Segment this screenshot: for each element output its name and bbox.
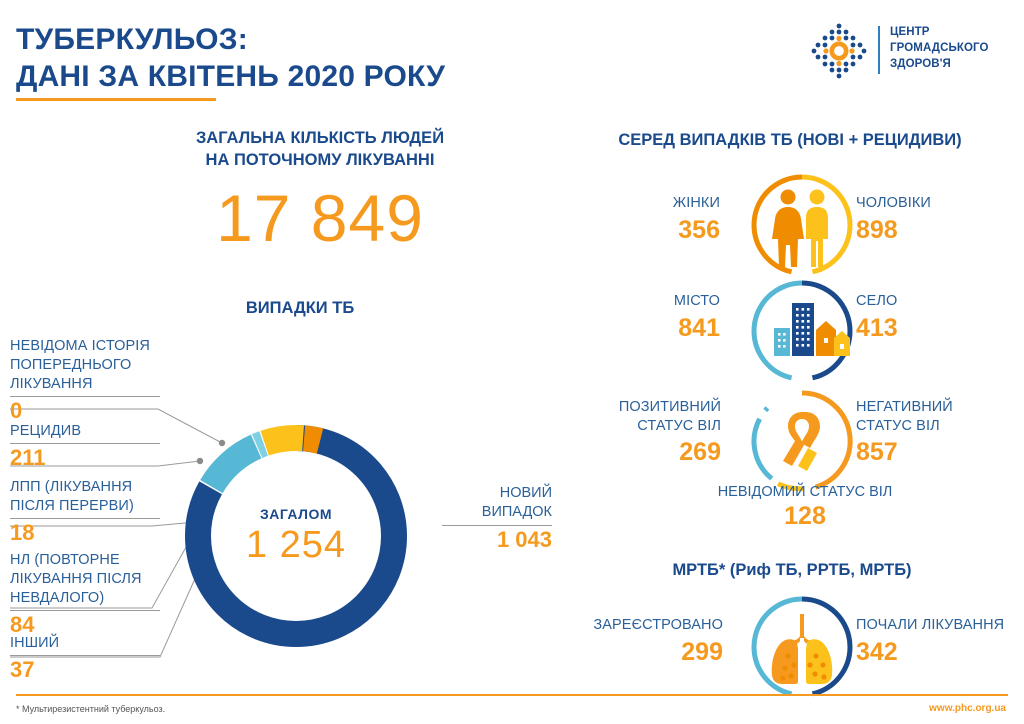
callout-value: 18 bbox=[10, 520, 160, 545]
total-on-treatment-value: 17 849 bbox=[120, 185, 520, 251]
stat-men: ЧОЛОВІКИ 898 bbox=[856, 194, 996, 244]
city-village-icon bbox=[747, 276, 857, 386]
stat-value: 841 bbox=[610, 314, 720, 343]
stat-value: 128 bbox=[640, 502, 970, 531]
stat-label: ЖІНКИ bbox=[600, 194, 720, 213]
callout-rule bbox=[10, 655, 160, 656]
stat-value: 269 bbox=[586, 438, 721, 467]
stat-value: 356 bbox=[600, 216, 720, 245]
stat-value: 342 bbox=[856, 638, 1024, 667]
callout-lpp: ЛПП (ЛІКУВАННЯ ПІСЛЯ ПЕРЕРВИ) 18 bbox=[10, 478, 160, 545]
stat-value: 898 bbox=[856, 216, 996, 245]
stat-label: ПОЧАЛИ ЛІКУВАННЯ bbox=[856, 616, 1024, 635]
callout-other: ІНШИЙ 37 bbox=[10, 634, 160, 682]
stat-hiv-negative: НЕГАТИВНИЙ СТАТУС ВІЛ 857 bbox=[856, 398, 1001, 467]
callout-label: НОВИЙ ВИПАДОК bbox=[442, 484, 552, 522]
callout-rule bbox=[10, 610, 160, 611]
page-title: ТУБЕРКУЛЬОЗ: ДАНІ ЗА КВІТЕНЬ 2020 РОКУ bbox=[16, 22, 445, 96]
header-divider bbox=[16, 98, 216, 101]
stat-city: МІСТО 841 bbox=[610, 292, 720, 342]
ribbon-icon bbox=[747, 386, 857, 496]
stat-value: 857 bbox=[856, 438, 1001, 467]
mdr-tb-heading: МРТБ* (Риф ТБ, РРТБ, МРТБ) bbox=[560, 560, 1024, 582]
footer-url[interactable]: www.phc.org.ua bbox=[929, 703, 1006, 714]
phc-logo-icon bbox=[810, 22, 868, 80]
stat-label: СЕЛО bbox=[856, 292, 966, 311]
stat-label: НЕГАТИВНИЙ СТАТУС ВІЛ bbox=[856, 398, 1001, 435]
tb-cases-among-heading: СЕРЕД ВИПАДКІВ ТБ (НОВІ + РЕЦИДИВИ) bbox=[560, 130, 1020, 152]
stat-hiv-positive: ПОЗИТИВНИЙ СТАТУС ВІЛ 269 bbox=[586, 398, 721, 467]
stat-label: ПОЗИТИВНИЙ СТАТУС ВІЛ bbox=[586, 398, 721, 435]
footnote-text: * Мультирезистентний туберкульоз. bbox=[16, 704, 165, 714]
callout-label: НЛ (ПОВТОРНЕ ЛІКУВАННЯ ПІСЛЯ НЕВДАЛОГО) bbox=[10, 551, 160, 608]
callout-value: 1 043 bbox=[442, 527, 552, 553]
callout-value: 0 bbox=[10, 398, 160, 423]
tb-cases-heading: ВИПАДКИ ТБ bbox=[150, 298, 450, 320]
stat-village: СЕЛО 413 bbox=[856, 292, 966, 342]
callout-label: ЛПП (ЛІКУВАННЯ ПІСЛЯ ПЕРЕРВИ) bbox=[10, 478, 160, 516]
logo-divider bbox=[878, 26, 880, 74]
callout-rule bbox=[10, 396, 160, 397]
stat-mdr-started-treatment: ПОЧАЛИ ЛІКУВАННЯ 342 bbox=[856, 616, 1024, 666]
callout-rule bbox=[10, 443, 160, 444]
stat-label: МІСТО bbox=[610, 292, 720, 311]
callout-rule bbox=[442, 525, 552, 526]
stat-label: НЕВІДОМИЙ СТАТУС ВІЛ bbox=[640, 484, 970, 500]
callout-label: НЕВІДОМА ІСТОРІЯ ПОПЕРЕДНЬОГО ЛІКУВАННЯ bbox=[10, 337, 160, 394]
callout-label: РЕЦИДИВ bbox=[10, 422, 160, 441]
callout-label: ІНШИЙ bbox=[10, 634, 160, 653]
footer-divider bbox=[16, 694, 1008, 696]
stat-label: ЧОЛОВІКИ bbox=[856, 194, 996, 213]
callout-relapse: РЕЦИДИВ 211 bbox=[10, 422, 160, 470]
donut-svg bbox=[176, 416, 416, 656]
stat-value: 299 bbox=[588, 638, 723, 667]
stat-women: ЖІНКИ 356 bbox=[600, 194, 720, 244]
logo-text: Центр громадського здоров'я bbox=[890, 25, 1008, 73]
callout-new-case: НОВИЙ ВИПАДОК 1 043 bbox=[442, 484, 552, 553]
stat-label: ЗАРЕЄСТРОВАНО bbox=[588, 616, 723, 635]
callout-value: 37 bbox=[10, 657, 160, 682]
stat-value: 413 bbox=[856, 314, 966, 343]
lungs-icon bbox=[747, 592, 857, 702]
total-on-treatment-heading: ЗАГАЛЬНА КІЛЬКІСТЬ ЛЮДЕЙ НА ПОТОЧНОМУ ЛІ… bbox=[110, 128, 530, 172]
callout-unknown-history: НЕВІДОМА ІСТОРІЯ ПОПЕРЕДНЬОГО ЛІКУВАННЯ … bbox=[10, 337, 160, 423]
infographic-page: ТУБЕРКУЛЬОЗ: ДАНІ ЗА КВІТЕНЬ 2020 РОКУ Ц bbox=[0, 0, 1024, 724]
tb-cases-donut-chart: ЗАГАЛОМ 1 254 bbox=[176, 416, 416, 656]
man-woman-icon bbox=[747, 170, 857, 280]
stat-hiv-unknown: НЕВІДОМИЙ СТАТУС ВІЛ 128 bbox=[640, 484, 970, 531]
logo: Центр громадського здоров'я bbox=[810, 20, 1006, 82]
callout-rule bbox=[10, 518, 160, 519]
stat-mdr-registered: ЗАРЕЄСТРОВАНО 299 bbox=[588, 616, 723, 666]
callout-value: 211 bbox=[10, 445, 160, 470]
callout-nl: НЛ (ПОВТОРНЕ ЛІКУВАННЯ ПІСЛЯ НЕВДАЛОГО) … bbox=[10, 551, 160, 637]
